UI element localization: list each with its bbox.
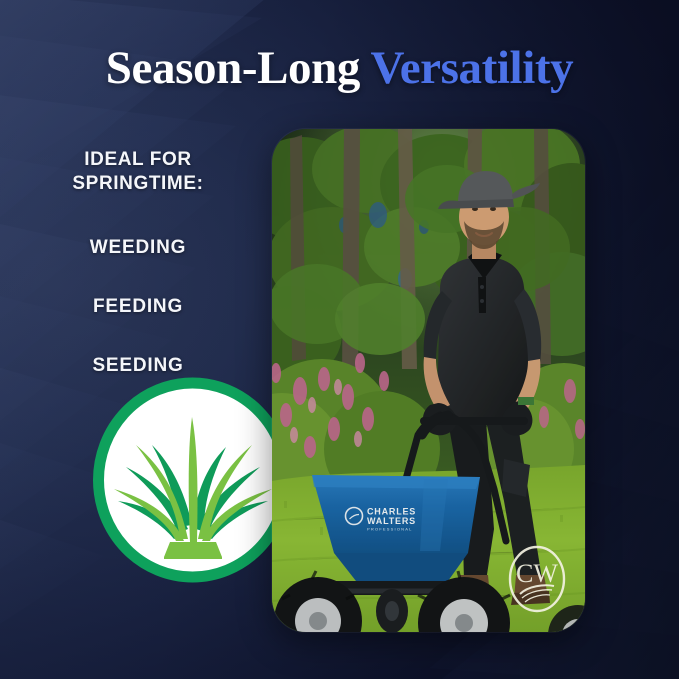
page-title: Season-Long Versatility bbox=[0, 44, 679, 93]
title-part-accent: Versatility bbox=[370, 42, 573, 94]
svg-text:CW: CW bbox=[516, 559, 558, 588]
list-item: FEEDING bbox=[22, 296, 254, 318]
grass-badge bbox=[92, 377, 293, 583]
product-photo: CHARLES WALTERS PROFESSIONAL bbox=[272, 129, 585, 632]
marketing-poster: Season-Long Versatility IDEAL FOR SPRING… bbox=[0, 0, 679, 679]
cw-leaf-monogram-watermark: CW bbox=[506, 544, 568, 614]
benefits-heading-line-2: SPRINGTIME: bbox=[22, 172, 254, 196]
benefits-heading: IDEAL FOR SPRINGTIME: bbox=[22, 148, 254, 197]
benefits-heading-line-1: IDEAL FOR bbox=[22, 148, 254, 172]
benefits-list: IDEAL FOR SPRINGTIME: WEEDING FEEDING SE… bbox=[22, 148, 254, 377]
list-item: SEEDING bbox=[22, 355, 254, 377]
title-part-primary: Season-Long bbox=[106, 42, 360, 94]
list-item: WEEDING bbox=[22, 237, 254, 259]
